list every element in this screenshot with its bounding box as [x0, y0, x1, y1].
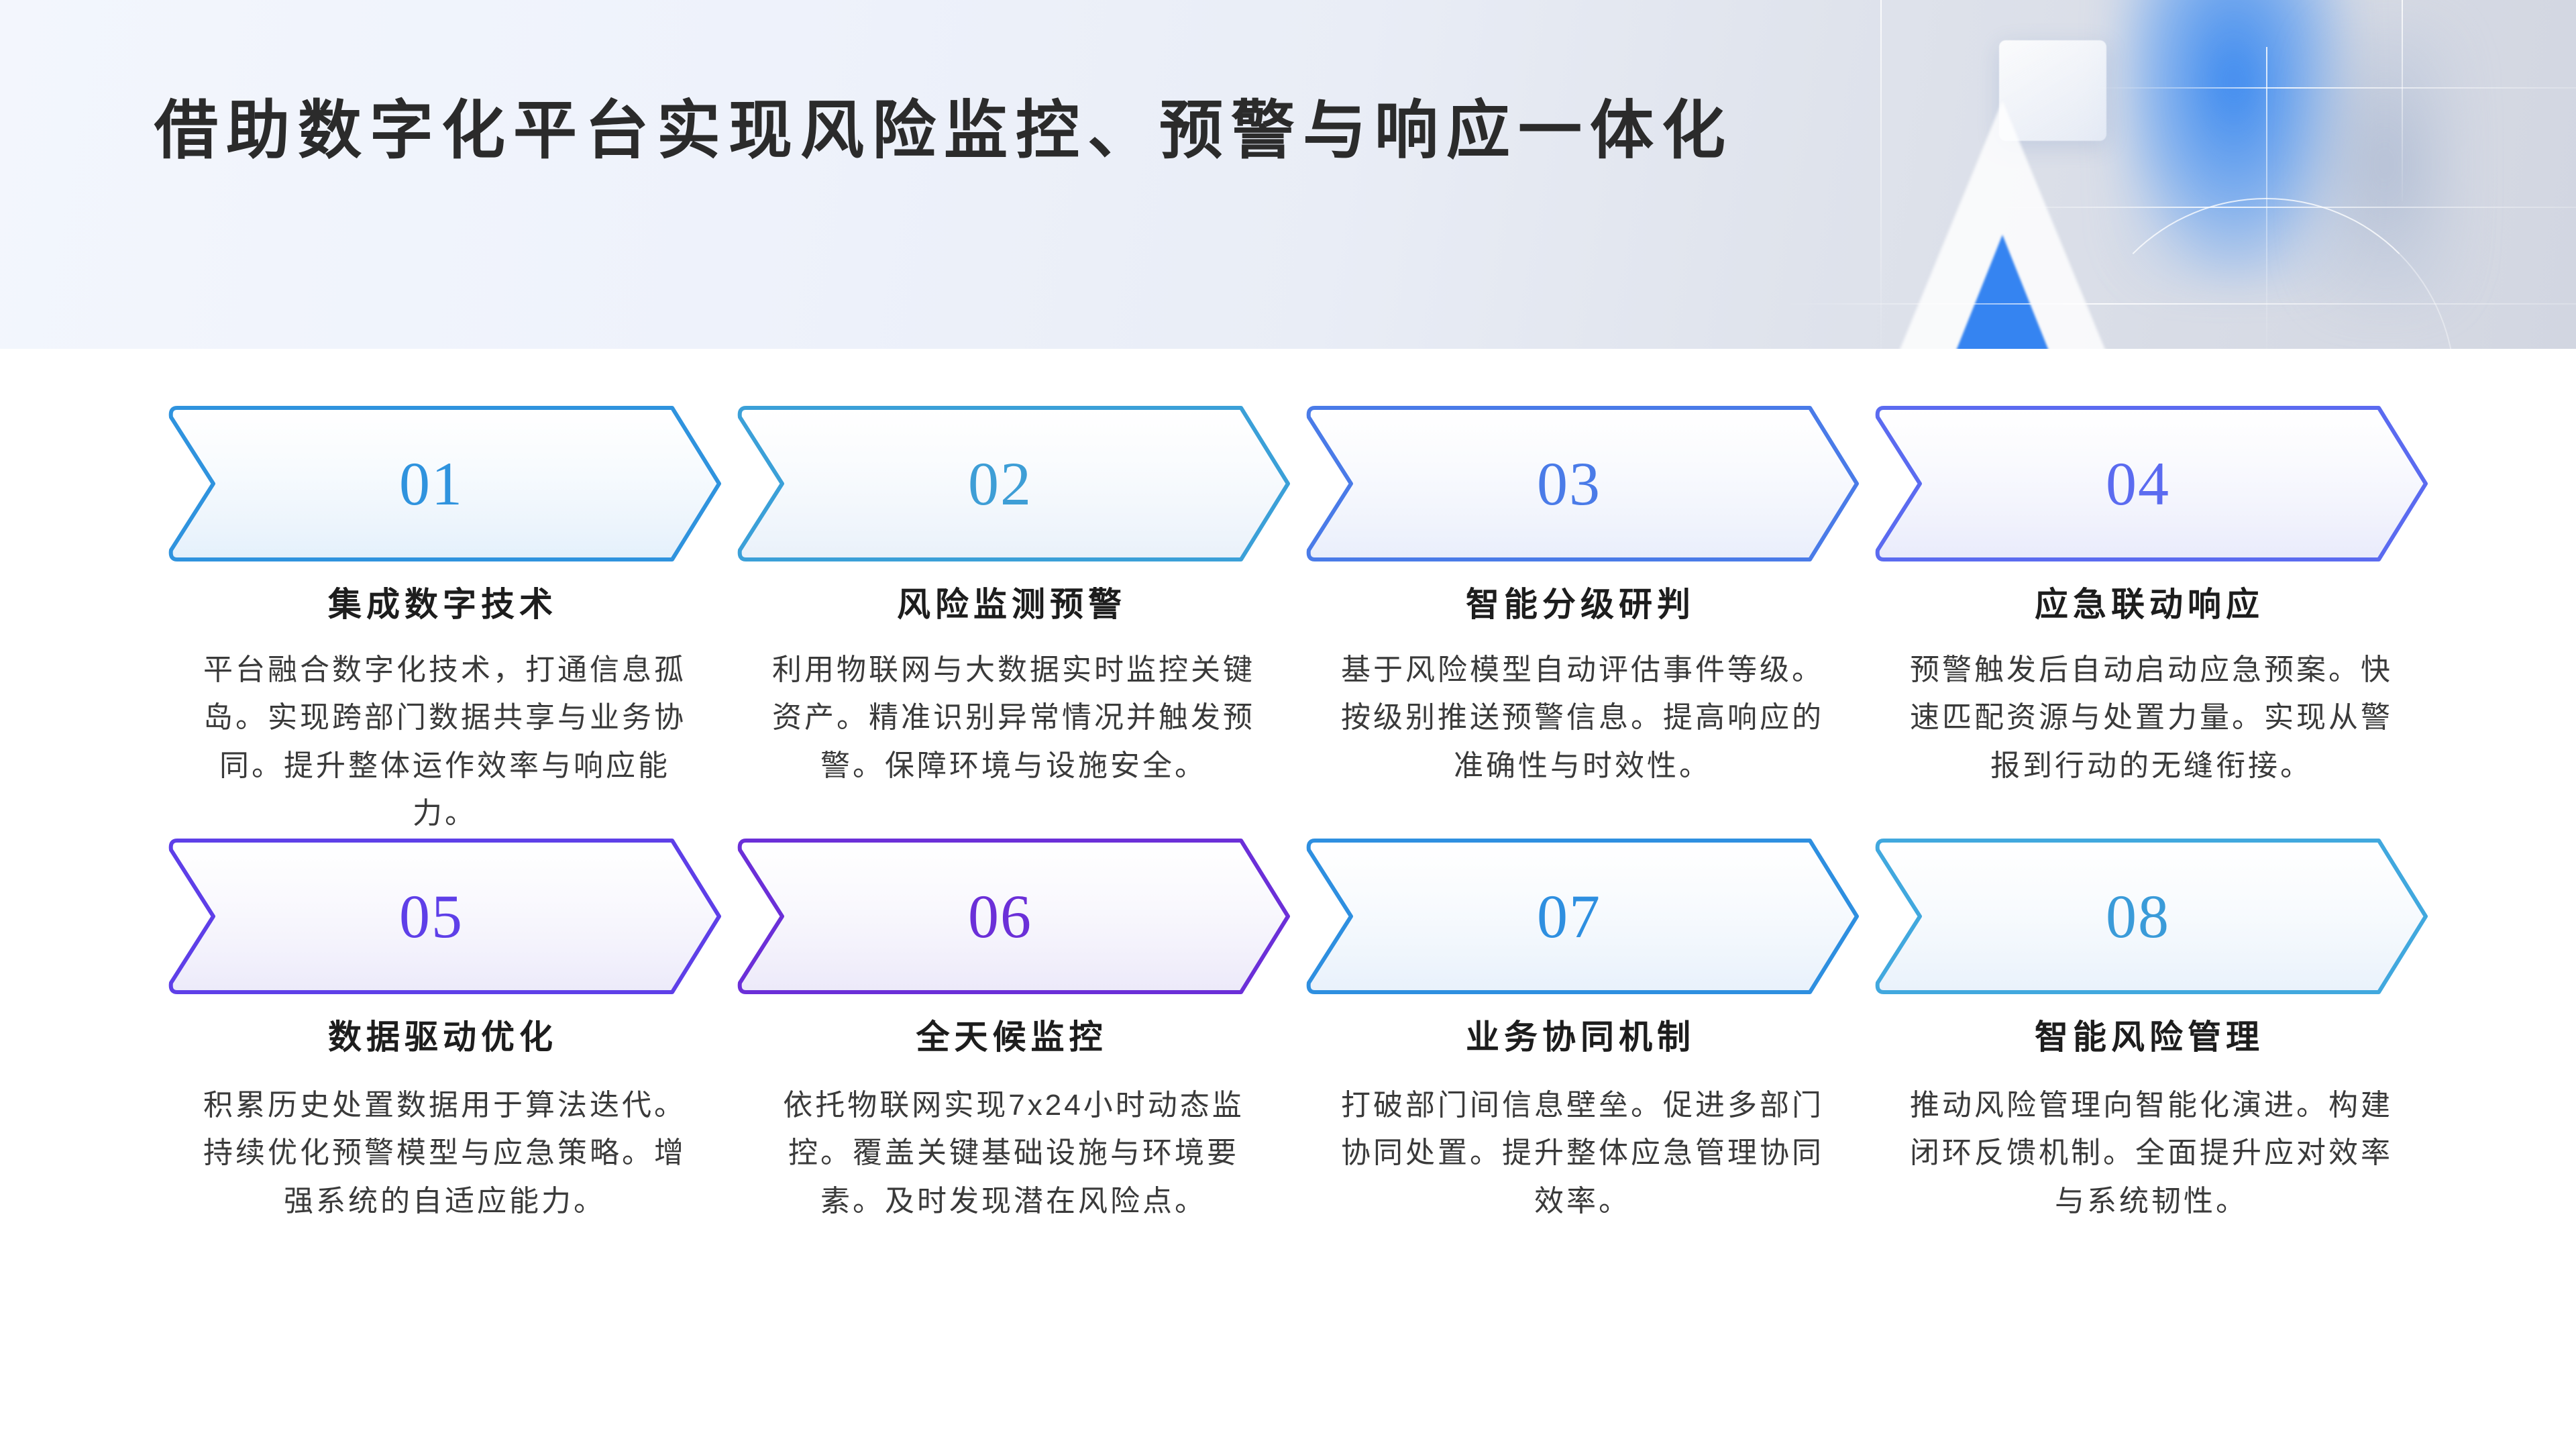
card-number: 01 — [168, 453, 695, 515]
card-number-banner: 01 — [168, 406, 722, 561]
feature-card[interactable]: 05数据驱动优化积累历史处置数据用于算法迭代。持续优化预警模型与应急策略。增强系… — [168, 839, 722, 1225]
card-number-banner: 08 — [1874, 839, 2428, 994]
page-title: 借助数字化平台实现风险监控、预警与响应一体化 — [154, 79, 1733, 171]
vertical-line-1 — [1880, 0, 1882, 349]
feature-card[interactable]: 07业务协同机制打破部门间信息壁垒。促进多部门协同处置。提升整体应急管理协同效率… — [1305, 839, 1860, 1225]
card-number: 06 — [737, 885, 1264, 947]
feature-card[interactable]: 08智能风险管理推动风险管理向智能化演进。构建闭环反馈机制。全面提升应对效率与系… — [1874, 839, 2428, 1225]
arc-line-icon — [2077, 198, 2455, 349]
card-description: 打破部门间信息壁垒。促进多部门协同处置。提升整体应急管理协同效率。 — [1305, 1081, 1860, 1225]
feature-card[interactable]: 01集成数字技术平台融合数字化技术，打通信息孤岛。实现跨部门数据共享与业务协同。… — [168, 406, 722, 837]
feature-card[interactable]: 06全天候监控依托物联网实现7x24小时动态监控。覆盖关键基础设施与环境要素。及… — [737, 839, 1291, 1225]
card-title: 全天候监控 — [737, 1010, 1291, 1059]
card-description: 平台融合数字化技术，打通信息孤岛。实现跨部门数据共享与业务协同。提升整体运作效率… — [168, 646, 722, 837]
card-title: 智能分级研判 — [1305, 578, 1860, 626]
card-number: 05 — [168, 885, 695, 947]
header-banner: 借助数字化平台实现风险监控、预警与响应一体化 — [0, 0, 2576, 349]
card-description: 积累历史处置数据用于算法迭代。持续优化预警模型与应急策略。增强系统的自适应能力。 — [168, 1081, 722, 1225]
card-number: 04 — [1874, 453, 2402, 515]
vertical-line-2 — [2266, 47, 2267, 349]
blue-triangle-icon — [1949, 235, 2056, 349]
horizontal-line-1 — [2093, 87, 2576, 89]
white-triangle-icon — [1892, 101, 2113, 349]
card-title: 数据驱动优化 — [168, 1010, 722, 1059]
feature-card[interactable]: 04应急联动响应预警触发后自动启动应急预案。快速匹配资源与处置力量。实现从警报到… — [1874, 406, 2428, 837]
card-description: 基于风险模型自动评估事件等级。按级别推送预警信息。提高响应的准确性与时效性。 — [1305, 646, 1860, 790]
card-title: 业务协同机制 — [1305, 1010, 1860, 1059]
card-row-2: 05数据驱动优化积累历史处置数据用于算法迭代。持续优化预警模型与应急策略。增强系… — [168, 839, 2449, 1225]
glass-rectangle-icon — [1999, 40, 2106, 141]
horizontal-line-2 — [1972, 207, 2576, 208]
gray-glow-blob-icon — [2308, 20, 2462, 309]
card-title: 应急联动响应 — [1874, 578, 2428, 626]
card-description: 依托物联网实现7x24小时动态监控。覆盖关键基础设施与环境要素。及时发现潜在风险… — [737, 1081, 1291, 1225]
feature-card[interactable]: 02风险监测预警利用物联网与大数据实时监控关键资产。精准识别异常情况并触发预警。… — [737, 406, 1291, 837]
card-row-1: 01集成数字技术平台融合数字化技术，打通信息孤岛。实现跨部门数据共享与业务协同。… — [168, 406, 2449, 837]
vertical-line-3 — [2402, 0, 2403, 201]
feature-card-grid: 01集成数字技术平台融合数字化技术，打通信息孤岛。实现跨部门数据共享与业务协同。… — [0, 349, 2576, 1449]
card-description: 利用物联网与大数据实时监控关键资产。精准识别异常情况并触发预警。保障环境与设施安… — [737, 646, 1291, 790]
card-description: 推动风险管理向智能化演进。构建闭环反馈机制。全面提升应对效率与系统韧性。 — [1874, 1081, 2428, 1225]
card-number: 08 — [1874, 885, 2402, 947]
blue-glow-blob-icon — [2113, 0, 2355, 288]
card-number-banner: 04 — [1874, 406, 2428, 561]
card-number-banner: 06 — [737, 839, 1291, 994]
card-description: 预警触发后自动启动应急预案。快速匹配资源与处置力量。实现从警报到行动的无缝衔接。 — [1874, 646, 2428, 790]
card-number-banner: 02 — [737, 406, 1291, 561]
card-number: 03 — [1305, 453, 1833, 515]
horizontal-line-3 — [1784, 303, 2576, 305]
card-title: 集成数字技术 — [168, 578, 722, 626]
card-title: 风险监测预警 — [737, 578, 1291, 626]
card-title: 智能风险管理 — [1874, 1010, 2428, 1059]
card-number-banner: 05 — [168, 839, 722, 994]
card-number: 07 — [1305, 885, 1833, 947]
feature-card[interactable]: 03智能分级研判基于风险模型自动评估事件等级。按级别推送预警信息。提高响应的准确… — [1305, 406, 1860, 837]
card-number: 02 — [737, 453, 1264, 515]
card-number-banner: 03 — [1305, 406, 1860, 561]
card-number-banner: 07 — [1305, 839, 1860, 994]
